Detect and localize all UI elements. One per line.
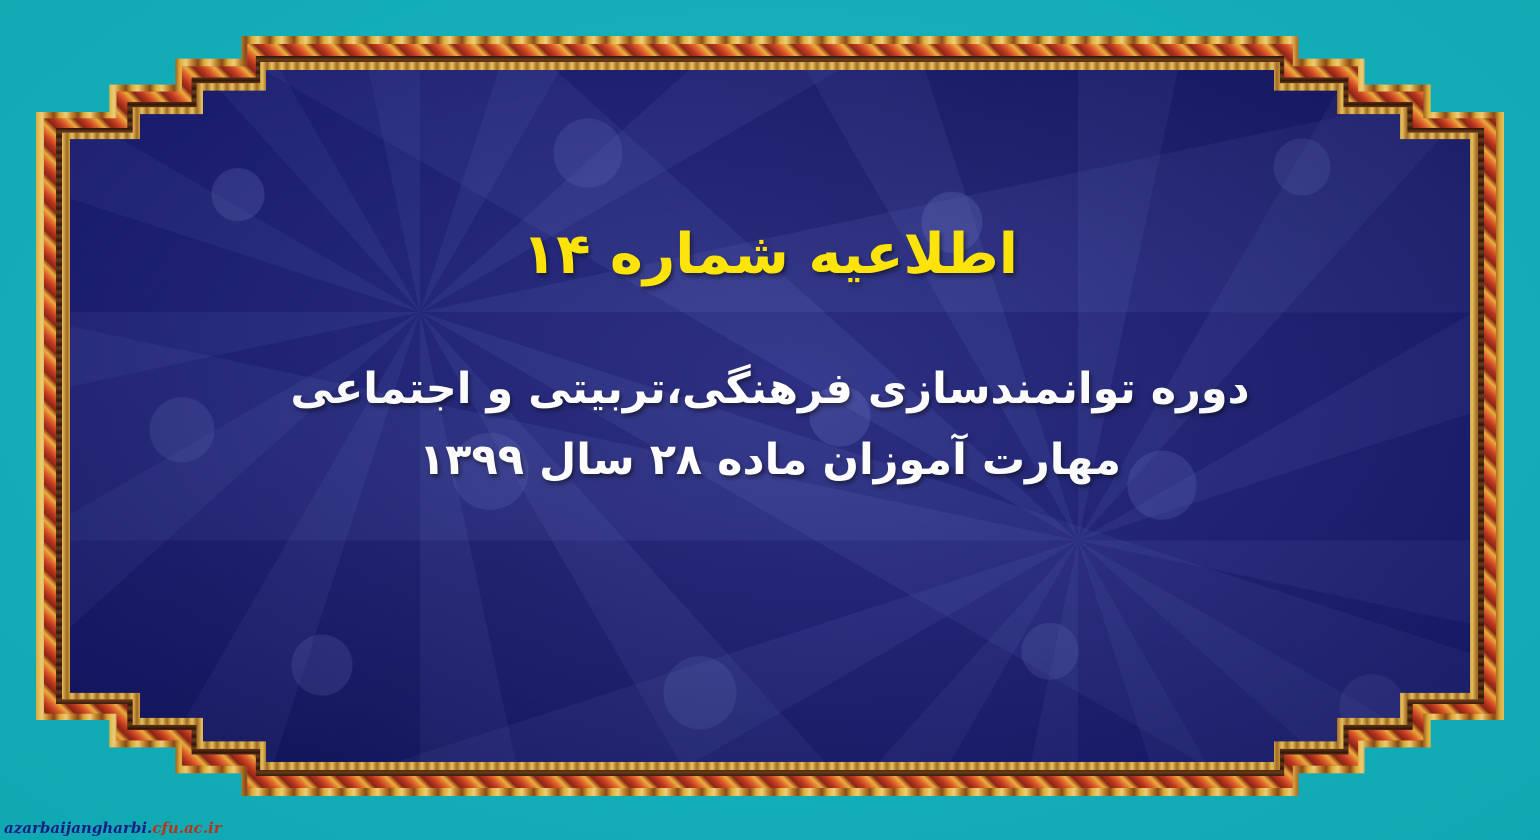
navy-damask-panel: اطلاعیه شماره ۱۴ دوره توانمندسازی فرهنگی… [70,70,1470,762]
poster-canvas: اطلاعیه شماره ۱۴ دوره توانمندسازی فرهنگی… [0,0,1540,840]
watermark-prefix: azarbaijangharbi. [4,819,152,837]
announcement-subtitle-line-2: مهارت آموزان ماده ۲۸ سال ۱۳۹۹ [160,425,1380,496]
announcement-headline: اطلاعیه شماره ۱۴ [160,220,1380,290]
announcement-text-block: اطلاعیه شماره ۱۴ دوره توانمندسازی فرهنگی… [70,220,1470,496]
announcement-subtitle: دوره توانمندسازی فرهنگی،تربیتی و اجتماعی… [160,354,1380,496]
watermark-domain: cfu.ac.ir [152,819,221,837]
announcement-subtitle-line-1: دوره توانمندسازی فرهنگی،تربیتی و اجتماعی [160,354,1380,425]
site-watermark: azarbaijangharbi.cfu.ac.ir [4,819,222,837]
